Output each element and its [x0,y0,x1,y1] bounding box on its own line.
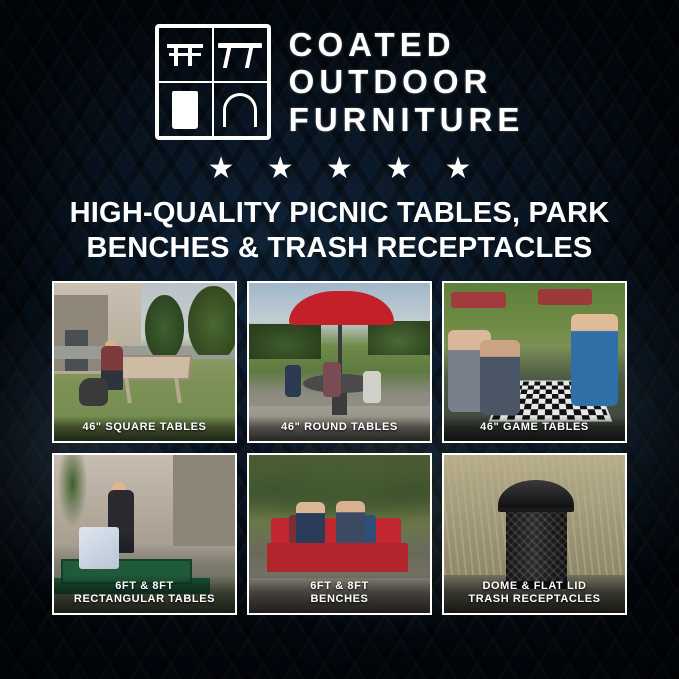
product-caption: 6FT & 8FTBENCHES [249,575,430,613]
brand-name-line-2: OUTDOOR [289,64,525,100]
product-card-game-tables[interactable]: 46" GAME TABLES [442,281,627,443]
headline-line-1: HIGH-QUALITY PICNIC TABLES, PARK [28,196,651,231]
brand-logo: COATED OUTDOOR FURNITURE [0,0,679,140]
picnic-table-icon [218,40,262,70]
product-caption: DOME & FLAT LIDTRASH RECEPTACLES [444,575,625,613]
ad-content: COATED OUTDOOR FURNITURE ★ ★ ★ ★ ★ HIGH-… [0,0,679,615]
product-card-square-tables[interactable]: 46" SQUARE TABLES [52,281,237,443]
headline-line-2: BENCHES & TRASH RECEPTACLES [28,231,651,266]
product-grid: 46" SQUARE TABLES 46" ROUND TABLES [52,281,627,615]
product-caption: 46" SQUARE TABLES [54,416,235,441]
logo-mark [155,24,271,140]
logo-cell-trash [158,82,213,137]
product-card-benches[interactable]: 6FT & 8FTBENCHES [247,453,432,615]
product-card-rectangular-tables[interactable]: 6FT & 8FTRECTANGULAR TABLES [52,453,237,615]
bench-icon [165,39,205,71]
logo-cell-table [213,27,268,82]
brand-wordmark: COATED OUTDOOR FURNITURE [289,27,525,138]
product-card-trash-receptacles[interactable]: DOME & FLAT LIDTRASH RECEPTACLES [442,453,627,615]
product-caption: 46" GAME TABLES [444,416,625,441]
page-title: HIGH-QUALITY PICNIC TABLES, PARK BENCHES… [0,196,679,267]
product-caption: 46" ROUND TABLES [249,416,430,441]
advertisement-image: COATED OUTDOOR FURNITURE ★ ★ ★ ★ ★ HIGH-… [0,0,679,679]
logo-cell-bench [158,27,213,82]
star-rating: ★ ★ ★ ★ ★ [0,154,679,184]
arch-icon [223,93,257,127]
brand-name-line-3: FURNITURE [289,102,525,138]
trash-can-icon [172,91,198,129]
product-caption: 6FT & 8FTRECTANGULAR TABLES [54,575,235,613]
brand-name-line-1: COATED [289,27,525,63]
logo-cell-arch [213,82,268,137]
product-card-round-tables[interactable]: 46" ROUND TABLES [247,281,432,443]
